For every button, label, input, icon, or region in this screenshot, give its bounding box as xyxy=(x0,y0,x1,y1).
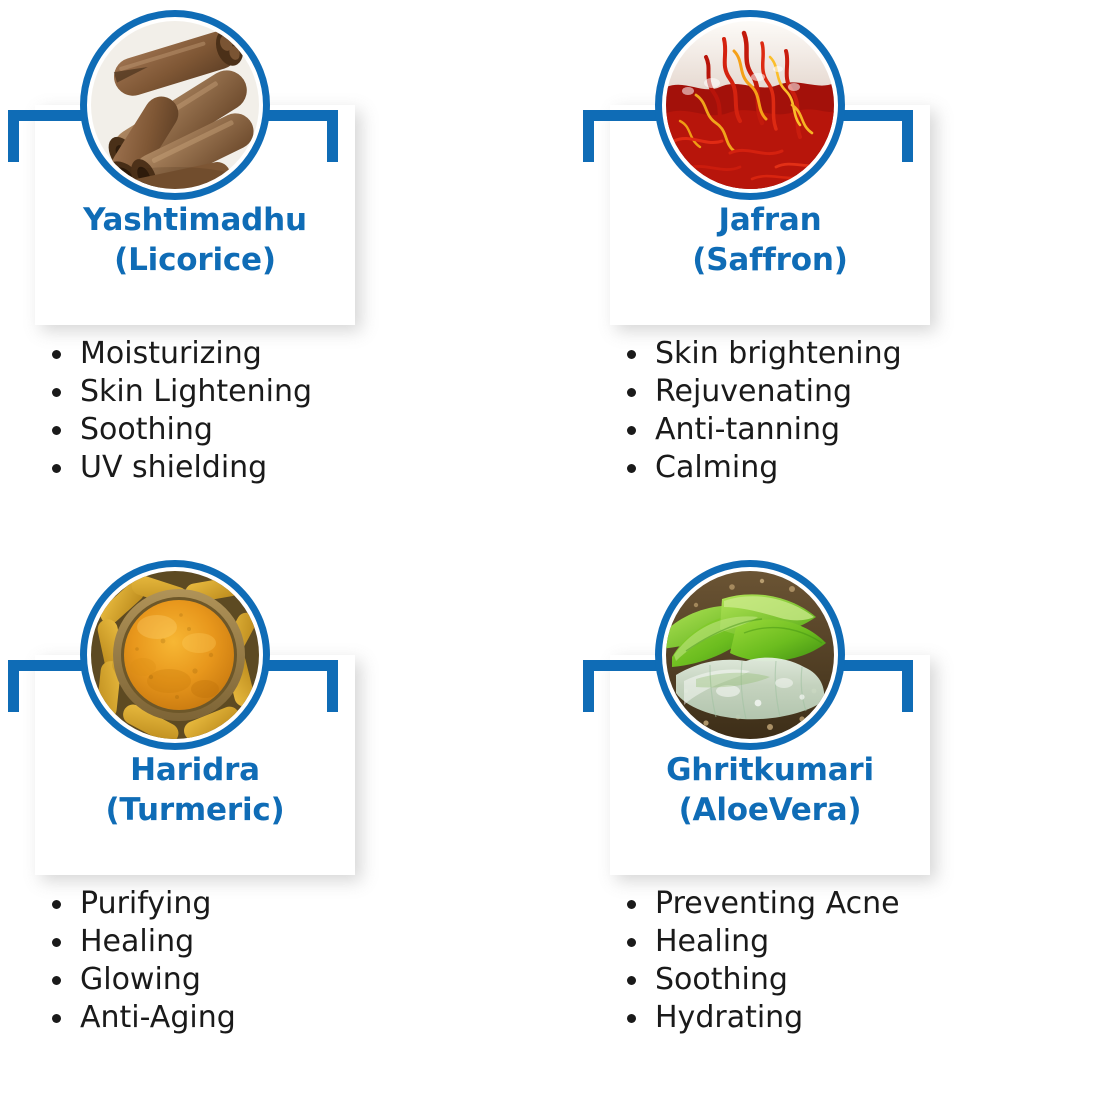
benefit-item: Anti-tanning xyxy=(610,411,1010,449)
bullet-icon xyxy=(52,976,61,985)
ingredient-name-common: (Turmeric) xyxy=(35,790,355,830)
ingredient-title: Haridra (Turmeric) xyxy=(35,750,355,831)
bullet-icon xyxy=(627,426,636,435)
ingredient-card-grid: Yashtimadhu (Licorice) Moisturizing Skin… xyxy=(0,0,1100,1100)
bullet-icon xyxy=(52,464,61,473)
ingredient-medallion xyxy=(655,10,845,200)
benefit-text: Anti-tanning xyxy=(655,412,840,447)
turmeric-powder-photo xyxy=(91,571,259,739)
bullet-icon xyxy=(627,976,636,985)
bullet-icon xyxy=(627,388,636,397)
benefits-list: Moisturizing Skin Lightening Soothing UV… xyxy=(35,335,435,487)
benefit-item: Anti-Aging xyxy=(35,999,435,1037)
bullet-icon xyxy=(52,900,61,909)
bullet-icon xyxy=(627,1014,636,1023)
ingredient-title: Jafran (Saffron) xyxy=(610,200,930,281)
benefit-item: Skin Lightening xyxy=(35,373,435,411)
benefit-text: Healing xyxy=(80,924,194,959)
bracket-left-leg xyxy=(8,660,19,712)
benefit-text: UV shielding xyxy=(80,450,267,485)
benefits-list: Preventing Acne Healing Soothing Hydrati… xyxy=(610,885,1010,1037)
ingredient-name-common: (Licorice) xyxy=(35,240,355,280)
ingredient-card-jafran[interactable]: Jafran (Saffron) Skin brightening Rejuve… xyxy=(550,0,1100,550)
benefit-item: Healing xyxy=(35,923,435,961)
benefit-text: Purifying xyxy=(80,886,211,921)
benefit-item: Moisturizing xyxy=(35,335,435,373)
ingredient-title: Ghritkumari (AloeVera) xyxy=(610,750,930,831)
bullet-icon xyxy=(627,350,636,359)
benefit-item: Rejuvenating xyxy=(610,373,1010,411)
bullet-icon xyxy=(627,900,636,909)
benefit-text: Skin brightening xyxy=(655,336,902,371)
bullet-icon xyxy=(627,938,636,947)
ingredient-name-sanskrit: Jafran xyxy=(718,202,821,238)
bracket-left-leg xyxy=(8,110,19,162)
benefit-item: Calming xyxy=(610,449,1010,487)
benefit-item: Glowing xyxy=(35,961,435,999)
benefit-text: Rejuvenating xyxy=(655,374,852,409)
benefit-item: Skin brightening xyxy=(610,335,1010,373)
cinnamon-sticks-photo xyxy=(91,21,259,189)
bullet-icon xyxy=(52,1014,61,1023)
ingredient-card-ghritkumari[interactable]: Ghritkumari (AloeVera) Preventing Acne H… xyxy=(550,550,1100,1100)
benefit-item: Soothing xyxy=(610,961,1010,999)
ingredient-medallion xyxy=(80,10,270,200)
benefit-text: Anti-Aging xyxy=(80,1000,236,1035)
benefit-item: Purifying xyxy=(35,885,435,923)
benefit-text: Soothing xyxy=(655,962,788,997)
benefit-text: Healing xyxy=(655,924,769,959)
ingredient-name-sanskrit: Haridra xyxy=(130,752,260,788)
benefit-text: Moisturizing xyxy=(80,336,262,371)
aloevera-gel-photo xyxy=(666,571,834,739)
benefits-list: Skin brightening Rejuvenating Anti-tanni… xyxy=(610,335,1010,487)
bullet-icon xyxy=(52,938,61,947)
benefit-text: Calming xyxy=(655,450,778,485)
benefit-item: UV shielding xyxy=(35,449,435,487)
bullet-icon xyxy=(52,350,61,359)
bullet-icon xyxy=(627,464,636,473)
ingredient-name-common: (AloeVera) xyxy=(610,790,930,830)
bullet-icon xyxy=(52,388,61,397)
ingredient-name-sanskrit: Yashtimadhu xyxy=(83,202,307,238)
benefit-text: Glowing xyxy=(80,962,201,997)
benefit-item: Healing xyxy=(610,923,1010,961)
benefit-text: Hydrating xyxy=(655,1000,803,1035)
ingredient-name-common: (Saffron) xyxy=(610,240,930,280)
ingredient-card-yashtimadhu[interactable]: Yashtimadhu (Licorice) Moisturizing Skin… xyxy=(0,0,550,550)
benefit-item: Soothing xyxy=(35,411,435,449)
benefit-text: Preventing Acne xyxy=(655,886,900,921)
ingredient-medallion xyxy=(80,560,270,750)
benefit-text: Soothing xyxy=(80,412,213,447)
ingredient-name-sanskrit: Ghritkumari xyxy=(666,752,874,788)
bullet-icon xyxy=(52,426,61,435)
saffron-threads-photo xyxy=(666,21,834,189)
benefit-text: Skin Lightening xyxy=(80,374,312,409)
benefits-list: Purifying Healing Glowing Anti-Aging xyxy=(35,885,435,1037)
ingredient-card-haridra[interactable]: Haridra (Turmeric) Purifying Healing Glo… xyxy=(0,550,550,1100)
ingredient-title: Yashtimadhu (Licorice) xyxy=(35,200,355,281)
infographic-board: Yashtimadhu (Licorice) Moisturizing Skin… xyxy=(0,0,1100,1100)
bracket-left-leg xyxy=(583,110,594,162)
benefit-item: Preventing Acne xyxy=(610,885,1010,923)
bracket-left-leg xyxy=(583,660,594,712)
ingredient-medallion xyxy=(655,560,845,750)
benefit-item: Hydrating xyxy=(610,999,1010,1037)
